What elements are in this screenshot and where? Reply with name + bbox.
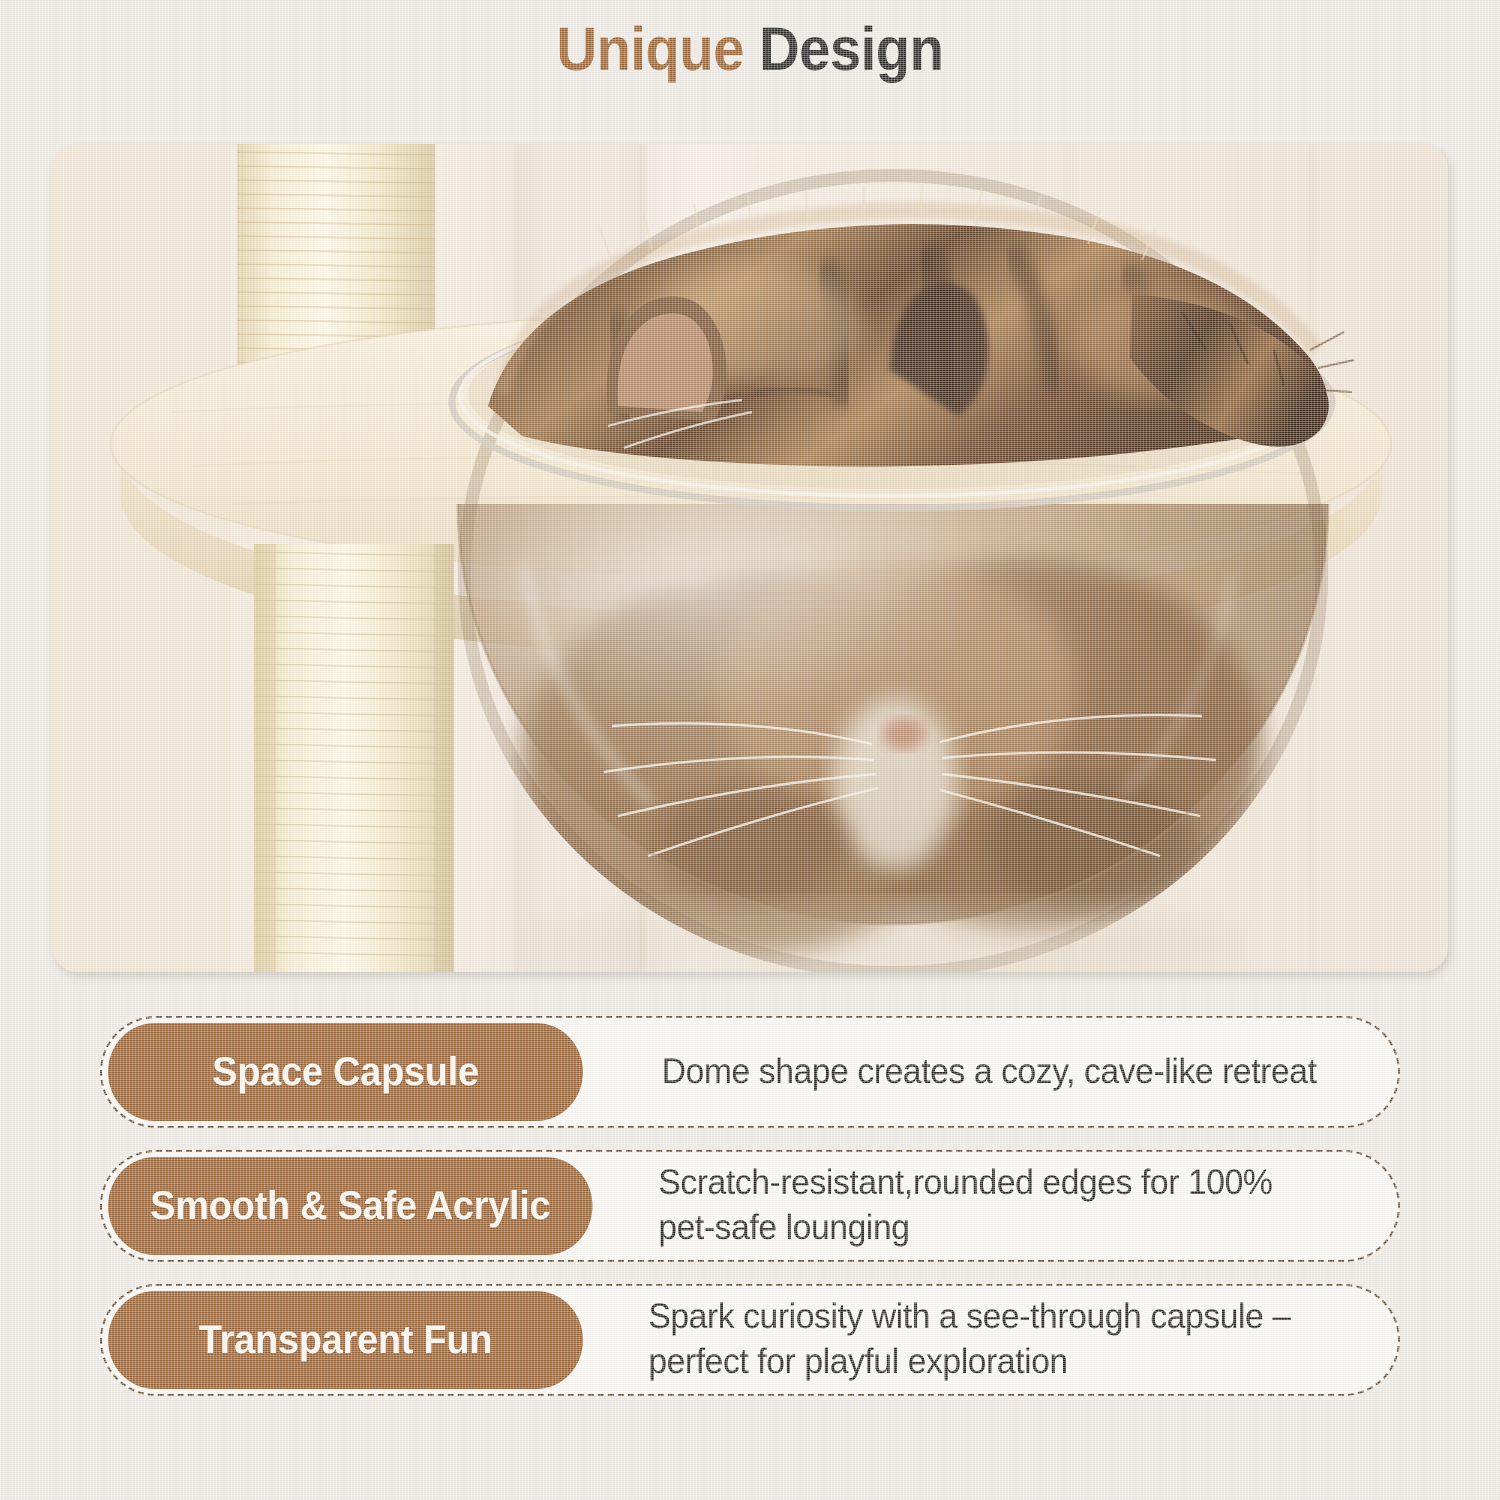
lower-sisal-post (254, 544, 454, 972)
feature-label-transparent-fun: Transparent Fun (108, 1291, 583, 1389)
title-word-accent: Unique (557, 15, 744, 83)
feature-list: Space Capsule Dome shape creates a cozy,… (100, 1016, 1400, 1418)
feature-label-smooth-safe-acrylic: Smooth & Safe Acrylic (108, 1157, 593, 1255)
product-photo-illustration (52, 144, 1448, 972)
feature-label-space-capsule: Space Capsule (108, 1023, 583, 1121)
feature-description-smooth-safe-acrylic: Scratch-resistant,rounded edges for 100%… (618, 1161, 1367, 1251)
feature-description-transparent-fun: Spark curiosity with a see-through capsu… (608, 1295, 1366, 1385)
title-word-dark: Design (759, 15, 943, 83)
feature-row-transparent-fun[interactable]: Transparent Fun Spark curiosity with a s… (100, 1284, 1400, 1396)
product-photo (52, 144, 1448, 972)
feature-description-space-capsule: Dome shape creates a cozy, cave-like ret… (608, 1050, 1366, 1095)
page-title: Unique Design (60, 16, 1440, 83)
feature-row-space-capsule[interactable]: Space Capsule Dome shape creates a cozy,… (100, 1016, 1400, 1128)
feature-row-smooth-safe-acrylic[interactable]: Smooth & Safe Acrylic Scratch-resistant,… (100, 1150, 1400, 1262)
